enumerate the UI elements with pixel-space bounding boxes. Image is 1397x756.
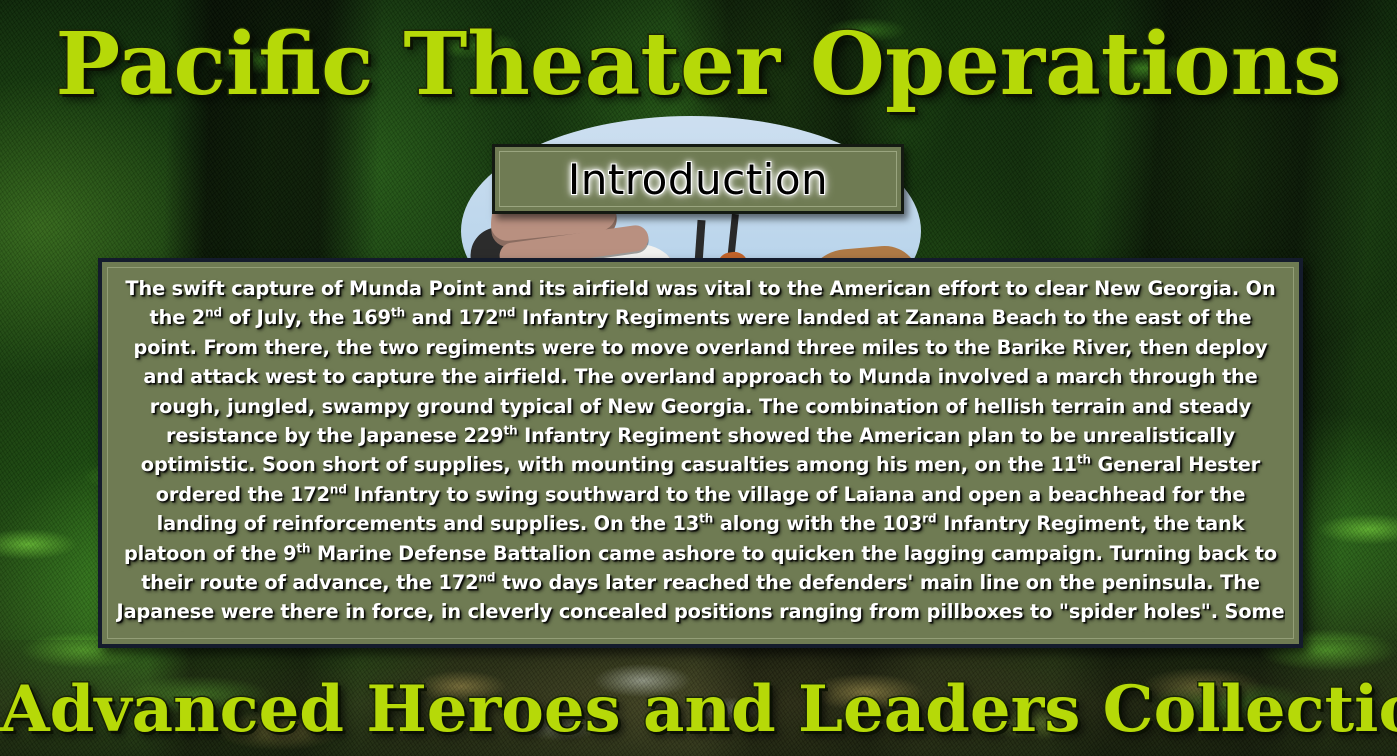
section-banner-label: Introduction (495, 147, 901, 211)
poster-canvas: Pacific Theater Operations Introduction … (0, 0, 1397, 756)
section-banner: Introduction (492, 144, 904, 214)
collection-subtitle: Advanced Heroes and Leaders Collection (0, 678, 1397, 742)
narrative-body-text: The swift capture of Munda Point and its… (116, 274, 1285, 632)
narrative-text-panel: The swift capture of Munda Point and its… (98, 258, 1303, 648)
poster-title: Pacific Theater Operations (0, 22, 1397, 108)
